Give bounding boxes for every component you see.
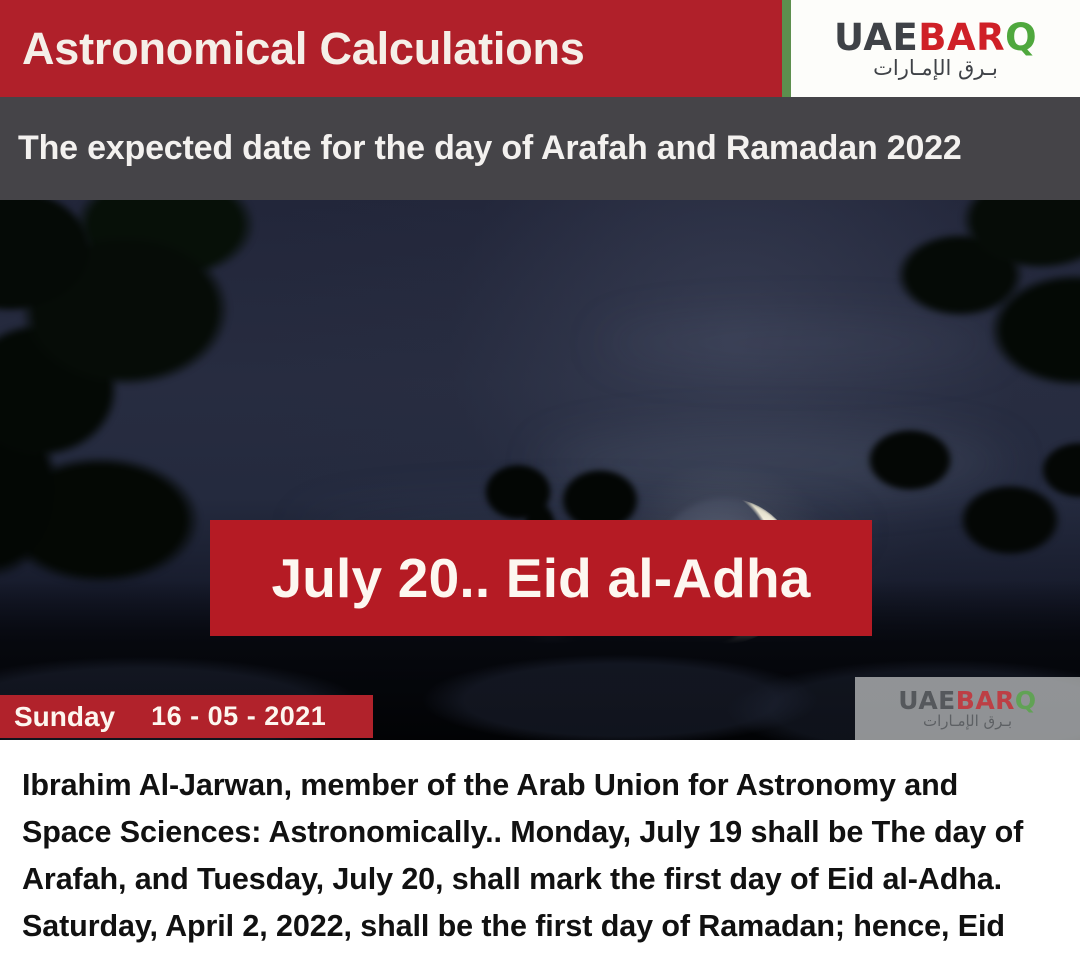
subtitle-bar: The expected date for the day of Arafah … xyxy=(0,97,1080,200)
astronomical-calculations-infographic: Astronomical Calculations UAEBARQ بـرق ا… xyxy=(0,0,1080,955)
logo-text-bar: BAR xyxy=(918,16,1005,59)
date-value-label: 16 - 05 - 2021 xyxy=(115,703,326,730)
date-day-label: Sunday xyxy=(0,703,115,731)
headline-banner: July 20.. Eid al-Adha xyxy=(210,520,872,636)
body-line: Ibrahim Al-Jarwan, member of the Arab Un… xyxy=(22,762,1060,809)
watermark-text-uae: UAE xyxy=(898,686,955,715)
header-title-block: Astronomical Calculations xyxy=(0,0,782,97)
tree-silhouette-right xyxy=(850,400,1080,600)
logo-text-uae: UAE xyxy=(834,16,918,59)
watermark-wordmark: UAEBARQ xyxy=(898,688,1036,713)
logo-arabic-text: بـرق الإمـارات xyxy=(873,58,998,79)
watermark-logo: UAEBARQ بـرق الإمـارات xyxy=(855,677,1080,740)
watermark-arabic-text: بـرق الإمـارات xyxy=(923,714,1012,729)
header-green-divider xyxy=(782,0,791,97)
logo-wordmark: UAEBARQ xyxy=(834,19,1037,56)
night-sky-photo: July 20.. Eid al-Adha Sunday 16 - 05 - 2… xyxy=(0,200,1080,740)
watermark-text-bar: BAR xyxy=(956,686,1015,715)
headline-text: July 20.. Eid al-Adha xyxy=(271,551,810,606)
body-line: Saturday, April 2, 2022, shall be the fi… xyxy=(22,903,1060,950)
body-line: Space Sciences: Astronomically.. Monday,… xyxy=(22,809,1060,856)
date-badge: Sunday 16 - 05 - 2021 xyxy=(0,695,373,738)
article-body: Ibrahim Al-Jarwan, member of the Arab Un… xyxy=(0,740,1080,955)
subtitle-text: The expected date for the day of Arafah … xyxy=(0,129,962,168)
header-bar: Astronomical Calculations UAEBARQ بـرق ا… xyxy=(0,0,1080,97)
brand-logo[interactable]: UAEBARQ بـرق الإمـارات xyxy=(791,0,1080,97)
tree-silhouette-top-right xyxy=(810,200,1080,410)
watermark-text-q: Q xyxy=(1015,686,1037,715)
body-line: Arafah, and Tuesday, July 20, shall mark… xyxy=(22,856,1060,903)
logo-text-q: Q xyxy=(1005,16,1037,59)
page-title: Astronomical Calculations xyxy=(0,26,585,71)
